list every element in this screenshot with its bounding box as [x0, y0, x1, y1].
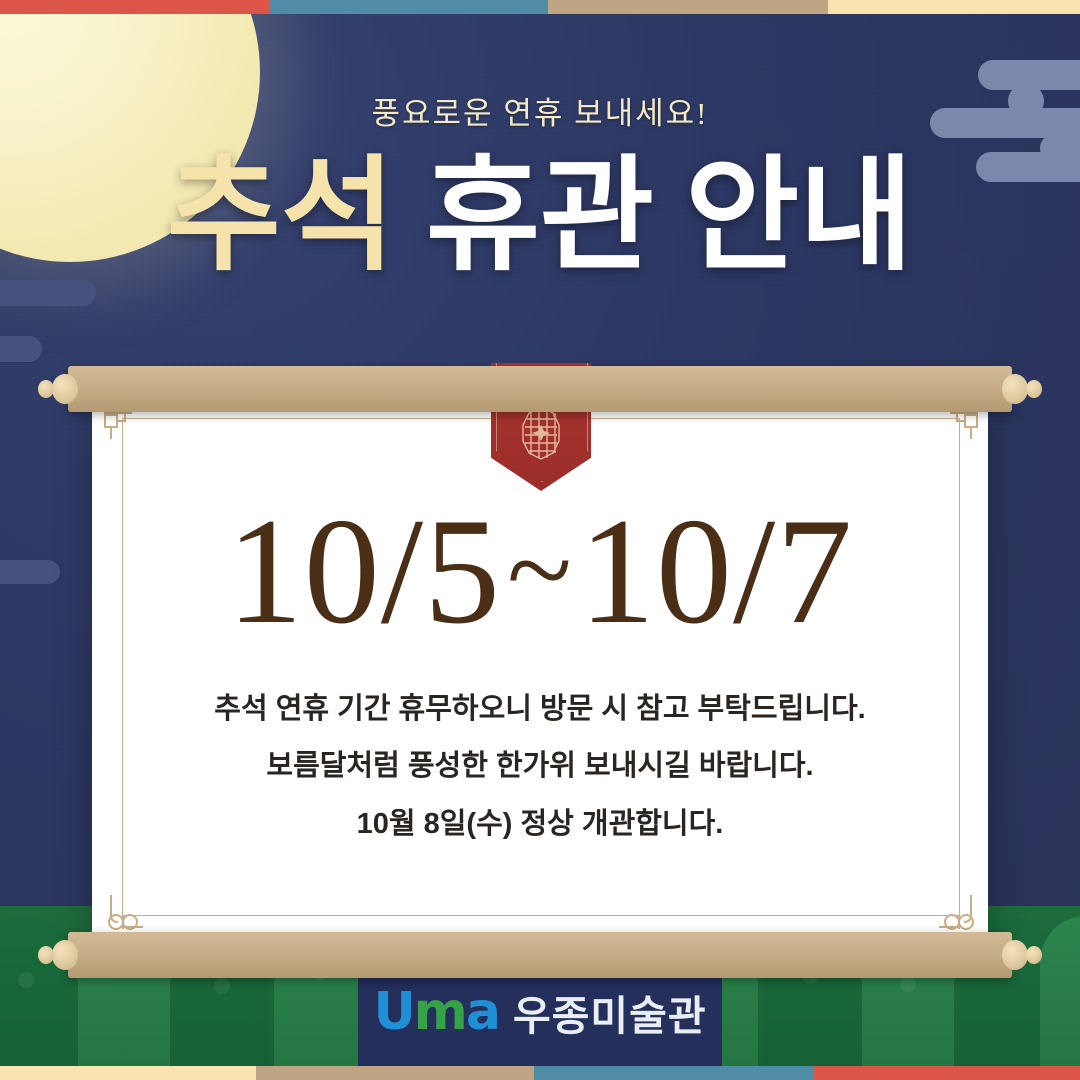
rod-finial-right — [1002, 940, 1028, 970]
museum-name: 우종미술관 — [513, 982, 707, 1042]
bar-segment-tan — [548, 0, 828, 14]
poster-canvas: 풍요로운 연휴 보내세요! 추석 휴관 안내 — [0, 0, 1080, 1080]
logo-letter-a: a — [466, 982, 499, 1042]
title-gold-part: 추석 — [167, 148, 395, 285]
rod-knob-left — [38, 380, 54, 398]
bar-segment-cream — [828, 0, 1080, 14]
rod-knob-right — [1026, 380, 1042, 398]
bar-segment-teal — [534, 1066, 814, 1080]
logo-letter-m: m — [414, 982, 466, 1042]
page-title: 추석 휴관 안내 — [0, 148, 1080, 287]
notice-body: 추석 연휴 기간 휴무하오니 방문 시 참고 부탁드립니다. 보름달처럼 풍성한… — [92, 690, 988, 843]
rod-knob-left — [38, 946, 54, 964]
title-white-part: 휴관 안내 — [426, 148, 913, 285]
scroll-rod-bottom — [68, 932, 1012, 978]
rod-finial-left — [52, 374, 78, 404]
rod-finial-right — [1002, 374, 1028, 404]
bar-segment-tan — [256, 1066, 534, 1080]
rod-finial-left — [52, 940, 78, 970]
subtitle-text: 풍요로운 연휴 보내세요! — [0, 88, 1080, 133]
notice-line: 10월 8일(수) 정상 개관합니다. — [92, 805, 988, 843]
bar-segment-red — [814, 1066, 1080, 1080]
rod-knob-right — [1026, 946, 1042, 964]
date-start: 10/5 — [227, 487, 501, 655]
logo-wordmark: Uma — [373, 986, 499, 1038]
bar-segment-cream — [0, 1066, 256, 1080]
logo-letter-u: U — [373, 982, 413, 1042]
holiday-date-range: 10/5~10/7 — [0, 495, 1080, 647]
top-color-bar — [0, 0, 1080, 14]
bottom-color-bar — [0, 1066, 1080, 1080]
notice-line: 추석 연휴 기간 휴무하오니 방문 시 참고 부탁드립니다. — [92, 690, 988, 728]
date-end: 10/7 — [579, 487, 853, 655]
bar-segment-teal — [270, 0, 548, 14]
notice-line: 보름달처럼 풍성한 한가위 보내시길 바랍니다. — [92, 747, 988, 785]
museum-logo: Uma 우종미술관 — [0, 982, 1080, 1042]
scroll-rod-top — [68, 366, 1012, 412]
date-separator: ~ — [501, 503, 579, 636]
bar-segment-red — [0, 0, 270, 14]
